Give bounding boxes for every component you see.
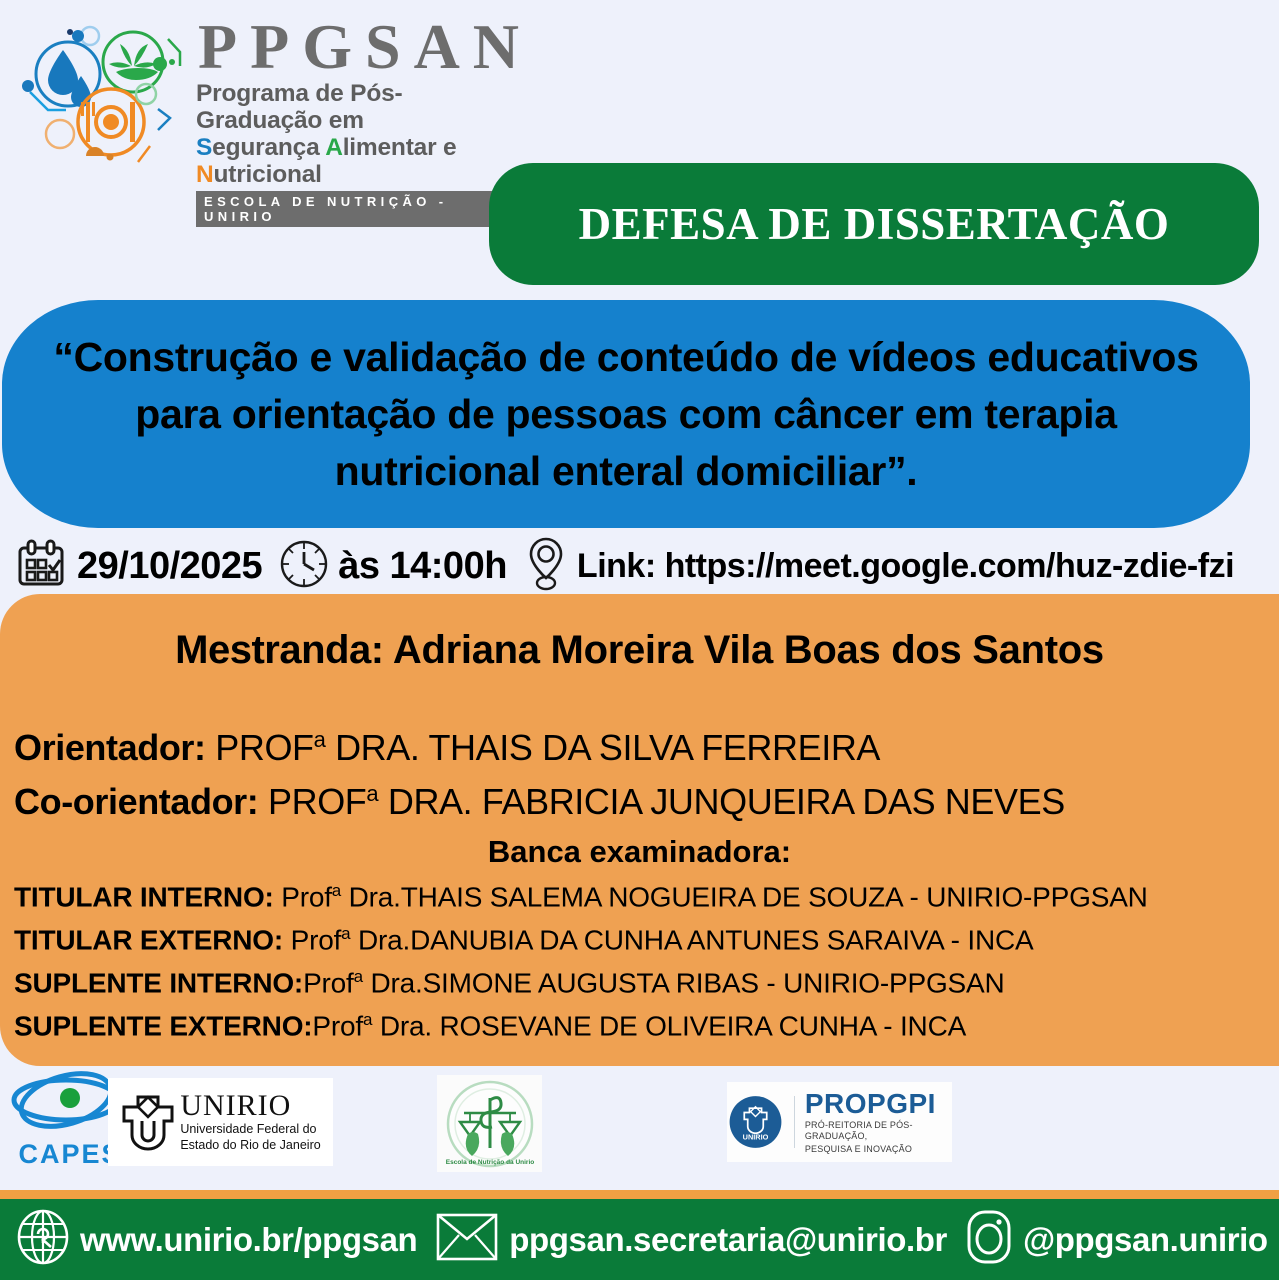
escola-nutricao-emblem-icon: Escola de Nutrição da Unirio <box>444 1078 536 1170</box>
propgpi-sub1: PRÓ-REITORIA DE PÓS-GRADUAÇÃO, <box>805 1120 952 1142</box>
ppgsan-s: S <box>196 134 212 161</box>
propgpi-badge-text: UNIRIO <box>743 1132 769 1141</box>
propgpi-logo: UNIRIO PROPGPI PRÓ-REITORIA DE PÓS-GRADU… <box>727 1082 952 1162</box>
propgpi-name: PROPGPI <box>805 1090 952 1118</box>
footer-instagram[interactable]: @ppgsan.unirio <box>1023 1221 1268 1259</box>
ppgsan-acronym: PPGSAN <box>196 16 526 78</box>
committee-prefix: Prof <box>274 881 332 912</box>
envelope-icon <box>435 1209 499 1270</box>
ppgsan-logo-mark <box>18 14 198 164</box>
sponsor-logos: UNIRIO Universidade Federal do Estado do… <box>0 1070 1279 1190</box>
advisor-row: Orientador: PROFa DRA. THAIS DA SILVA FE… <box>14 727 880 769</box>
propgpi-sub2: PESQUISA E INOVAÇÃO <box>805 1144 952 1155</box>
committee-name: Dra.THAIS SALEMA NOGUEIRA DE SOUZA - UNI… <box>341 881 1148 912</box>
ppgsan-nutricional: utricional <box>214 161 322 188</box>
coadvisor-sup: a <box>366 781 378 806</box>
defesa-banner: DEFESA DE DISSERTAÇÃO <box>489 163 1259 285</box>
footer-accent-bar <box>0 1190 1279 1199</box>
poster: PPGSAN Programa de Pós-Graduação em Segu… <box>0 0 1279 1280</box>
committee-member-row: TITULAR INTERNO: Profa Dra.THAIS SALEMA … <box>14 881 1148 913</box>
event-link[interactable]: Link: https://meet.google.com/huz-zdie-f… <box>577 547 1234 586</box>
map-pin-icon <box>523 536 569 597</box>
committee-sup: a <box>354 967 363 986</box>
unirio-sub2: Estado do Rio de Janeiro <box>180 1138 320 1153</box>
advisor-prefix: PROF <box>215 727 313 768</box>
committee-member-row: TITULAR EXTERNO: Profa Dra.DANUBIA DA CU… <box>14 924 1034 956</box>
coadvisor-prefix: PROF <box>268 781 366 822</box>
committee-role: SUPLENTE EXTERNO: <box>14 1010 312 1041</box>
committee-sup: a <box>332 881 341 900</box>
globe-icon <box>16 1208 70 1271</box>
coadvisor-name: DRA. FABRICIA JUNQUEIRA DAS NEVES <box>378 781 1065 822</box>
instagram-icon <box>963 1208 1015 1271</box>
committee-name: Dra.SIMONE AUGUSTA RIBAS - UNIRIO-PPGSAN <box>363 967 1005 998</box>
footer-website[interactable]: www.unirio.br/ppgsan <box>80 1221 417 1259</box>
committee-role: TITULAR INTERNO: <box>14 881 274 912</box>
advisor-sup: a <box>314 727 326 752</box>
dissertation-title-block: “Construção e validação de conteúdo de v… <box>2 300 1250 528</box>
calendar-icon <box>14 537 68 596</box>
footer-email[interactable]: ppgsan.secretaria@unirio.br <box>509 1221 947 1259</box>
unirio-logo: UNIRIO Universidade Federal do Estado do… <box>108 1078 333 1166</box>
advisor-name: DRA. THAIS DA SILVA FERREIRA <box>325 727 880 768</box>
ppgsan-subtitle-line1: Programa de Pós-Graduação em <box>196 80 526 134</box>
committee-title: Banca examinadora: <box>0 834 1279 870</box>
committee-prefix: Prof <box>303 967 354 998</box>
event-info-row: 29/10/2025 às 14:00h Link: <box>0 534 1279 598</box>
ppgsan-n: N <box>196 161 214 188</box>
footer-bar: www.unirio.br/ppgsan ppgsan.secretaria@u… <box>0 1199 1279 1280</box>
committee-sup: a <box>363 1010 372 1029</box>
event-date: 29/10/2025 <box>77 545 262 588</box>
people-block: Mestranda: Adriana Moreira Vila Boas dos… <box>0 594 1279 1066</box>
committee-member-row: SUPLENTE EXTERNO:Profa Dra. ROSEVANE DE … <box>14 1010 966 1042</box>
advisor-label: Orientador: <box>14 727 206 768</box>
unirio-sub1: Universidade Federal do <box>180 1122 320 1137</box>
coadvisor-row: Co-orientador: PROFa DRA. FABRICIA JUNQU… <box>14 781 1065 823</box>
student-name: Adriana Moreira Vila Boas dos Santos <box>393 628 1104 672</box>
ppgsan-alimentar: limentar e <box>343 134 457 161</box>
clock-icon <box>278 538 330 595</box>
ppgsan-a: A <box>325 134 343 161</box>
committee-prefix: Prof <box>283 924 341 955</box>
unirio-crest-icon <box>120 1091 176 1153</box>
ppgsan-school-band: ESCOLA DE NUTRIÇÃO - UNIRIO <box>196 191 496 227</box>
escola-nutricao-logo: Escola de Nutrição da Unirio <box>437 1075 542 1172</box>
committee-name: Dra. ROSEVANE DE OLIVEIRA CUNHA - INCA <box>372 1010 966 1041</box>
committee-role: TITULAR EXTERNO: <box>14 924 283 955</box>
dissertation-title: “Construção e validação de conteúdo de v… <box>31 329 1221 500</box>
ppgsan-logo: PPGSAN Programa de Pós-Graduação em Segu… <box>0 0 540 170</box>
event-time: às 14:00h <box>338 545 507 588</box>
student-row: Mestranda: Adriana Moreira Vila Boas dos… <box>0 628 1279 673</box>
escola-caption: Escola de Nutrição da Unirio <box>445 1159 534 1166</box>
committee-member-row: SUPLENTE INTERNO:Profa Dra.SIMONE AUGUST… <box>14 967 1005 999</box>
ppgsan-logo-text: PPGSAN Programa de Pós-Graduação em Segu… <box>196 16 526 227</box>
committee-prefix: Prof <box>312 1010 363 1041</box>
ppgsan-subtitle-line2: Segurança Alimentar e Nutricional <box>196 134 526 188</box>
propgpi-divider <box>794 1096 795 1148</box>
propgpi-badge-icon: UNIRIO <box>727 1089 784 1155</box>
coadvisor-label: Co-orientador: <box>14 781 258 822</box>
committee-name: Dra.DANUBIA DA CUNHA ANTUNES SARAIVA - I… <box>350 924 1033 955</box>
ppgsan-seguranca: egurança <box>212 134 325 161</box>
student-label: Mestranda: <box>175 628 383 672</box>
committee-role: SUPLENTE INTERNO: <box>14 967 303 998</box>
defesa-banner-label: DEFESA DE DISSERTAÇÃO <box>579 198 1170 250</box>
unirio-name: UNIRIO <box>180 1091 320 1121</box>
